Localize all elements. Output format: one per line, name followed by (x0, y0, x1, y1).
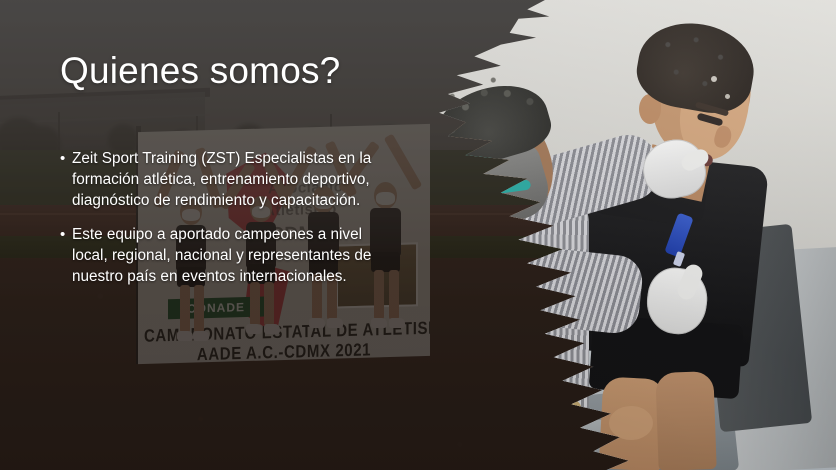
athlete-knee (609, 406, 653, 440)
sweat-drop (711, 76, 717, 82)
list-item: • Este equipo a aportado campeones a niv… (60, 224, 390, 287)
bullet-list: • Zeit Sport Training (ZST) Especialista… (60, 148, 390, 300)
sweat-drop (725, 94, 730, 99)
presentation-slide: Asociación Atletismo CDMX CONADE CAMPEON… (0, 0, 836, 470)
bullet-marker: • (60, 224, 72, 287)
bullet-text: Este equipo a aportado campeones a nivel… (72, 224, 390, 287)
page-title: Quienes somos? (60, 50, 400, 92)
bullet-text: Zeit Sport Training (ZST) Especialistas … (72, 148, 390, 211)
bullet-marker: • (60, 148, 72, 211)
athlete-leg (655, 371, 716, 470)
list-item: • Zeit Sport Training (ZST) Especialista… (60, 148, 390, 211)
